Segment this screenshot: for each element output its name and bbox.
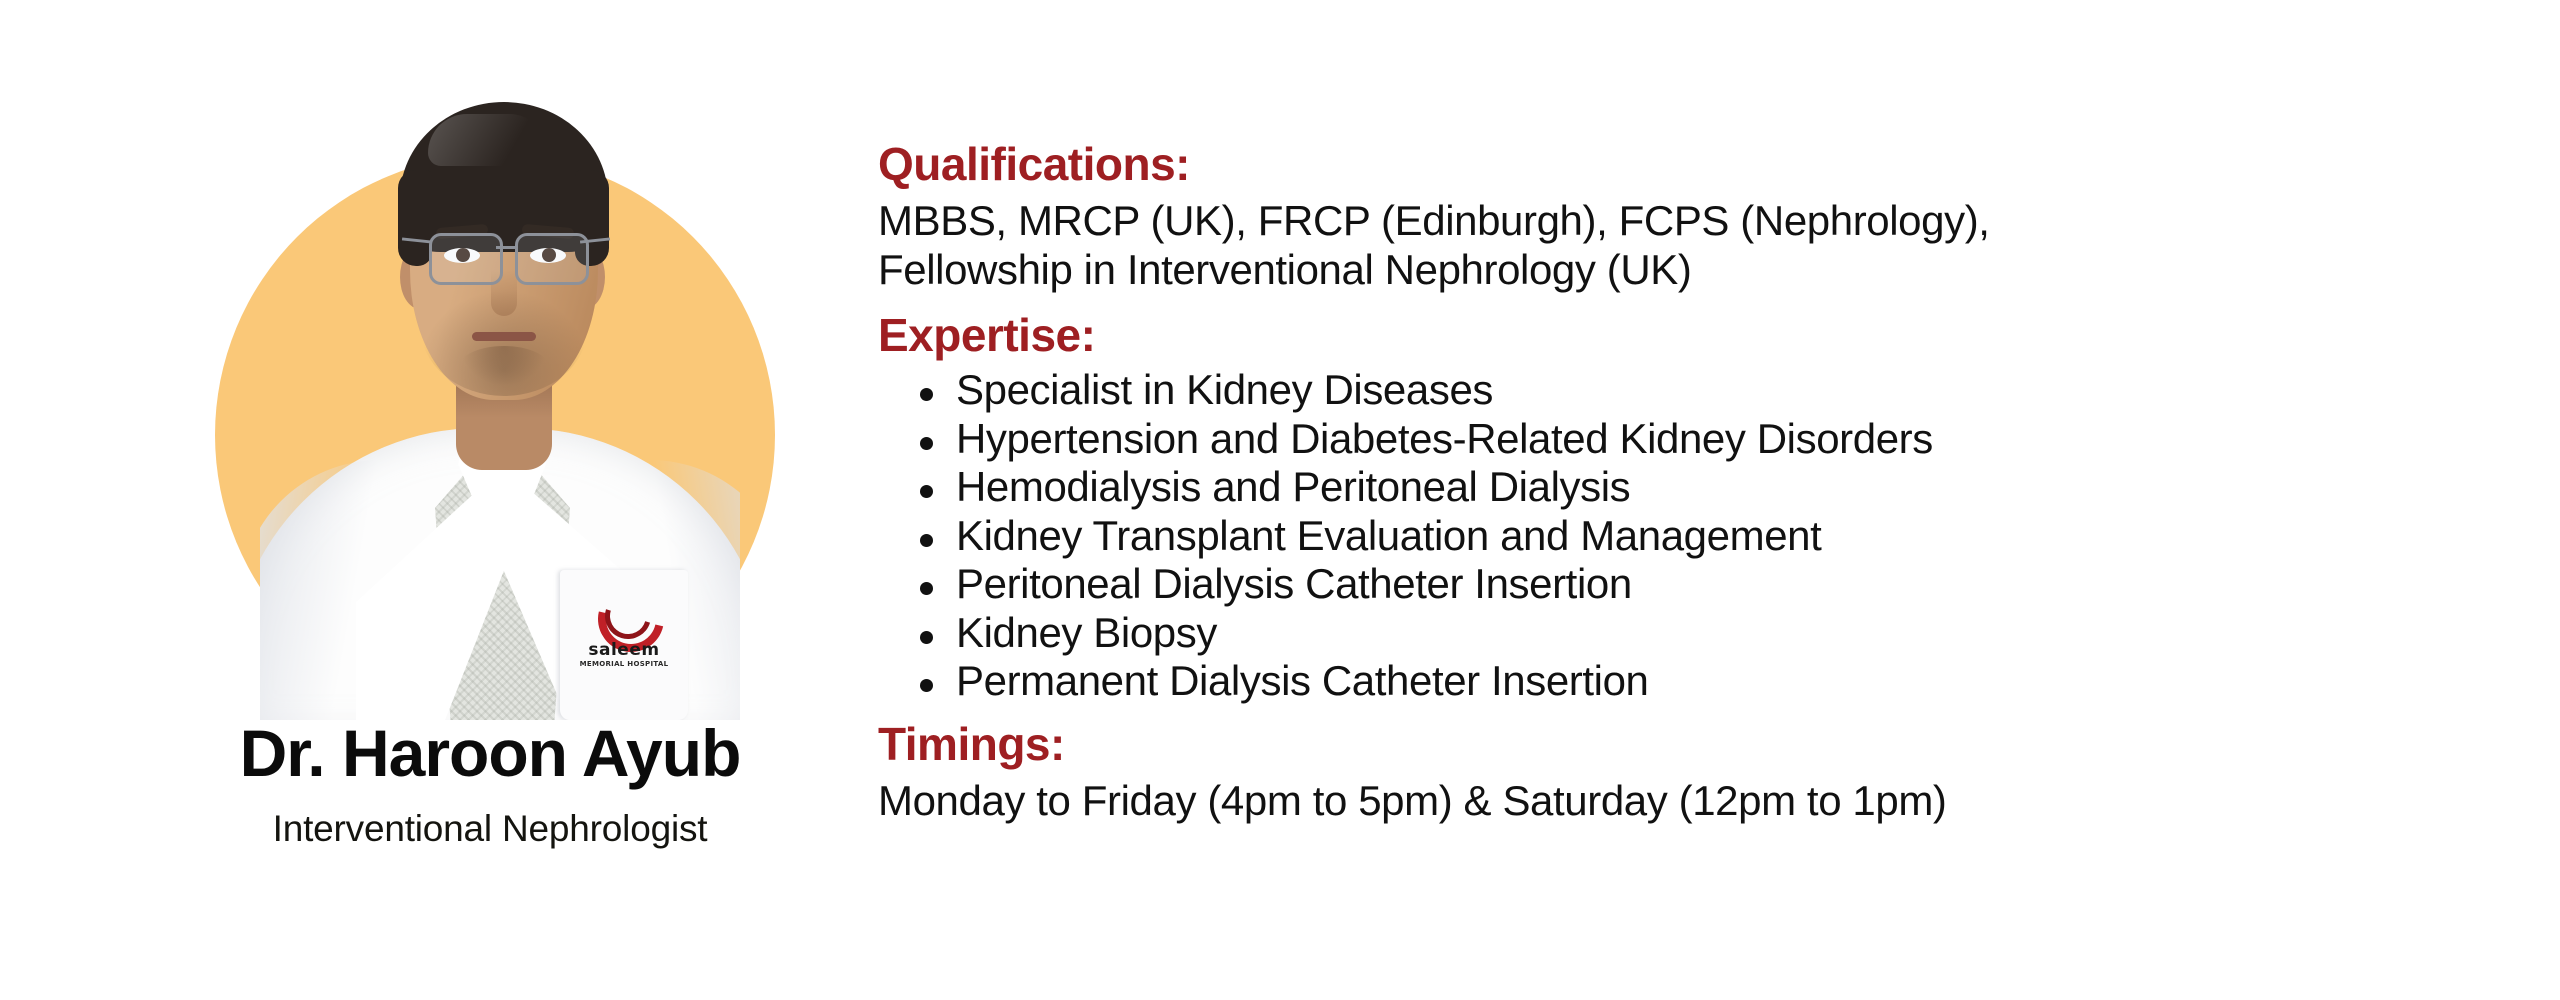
doctor-specialty: Interventional Nephrologist [110, 810, 870, 847]
details-column: Qualifications: MBBS, MRCP (UK), FRCP (E… [878, 140, 2438, 825]
list-item: Hemodialysis and Peritoneal Dialysis [918, 463, 2438, 512]
timings-value: Monday to Friday (4pm to 5pm) & Saturday… [878, 776, 2438, 826]
list-item: Kidney Biopsy [918, 609, 2438, 658]
qualifications-heading: Qualifications: [878, 140, 2438, 190]
list-item: Specialist in Kidney Diseases [918, 366, 2438, 415]
doctor-name: Dr. Haroon Ayub [110, 720, 870, 786]
hospital-logo-name: saleem [572, 640, 676, 660]
expertise-heading: Expertise: [878, 311, 2438, 361]
profile-column: saleem MEMORIAL HOSPITAL Dr. Haroon Ayub… [110, 20, 870, 920]
doctor-portrait-illustration: saleem MEMORIAL HOSPITAL [260, 30, 740, 720]
eyeglasses-icon [429, 233, 503, 285]
expertise-list: Specialist in Kidney Diseases Hypertensi… [878, 366, 2438, 706]
qualifications-line-2: Fellowship in Interventional Nephrology … [878, 245, 2438, 295]
timings-heading: Timings: [878, 720, 2438, 770]
hospital-logo-subtitle: MEMORIAL HOSPITAL [572, 660, 676, 668]
list-item: Permanent Dialysis Catheter Insertion [918, 657, 2438, 706]
qualifications-line-1: MBBS, MRCP (UK), FRCP (Edinburgh), FCPS … [878, 196, 2438, 246]
list-item: Peritoneal Dialysis Catheter Insertion [918, 560, 2438, 609]
list-item: Hypertension and Diabetes-Related Kidney… [918, 415, 2438, 464]
doctor-photo: saleem MEMORIAL HOSPITAL [110, 20, 870, 720]
hospital-logo: saleem MEMORIAL HOSPITAL [572, 586, 676, 682]
doctor-profile-card: saleem MEMORIAL HOSPITAL Dr. Haroon Ayub… [0, 0, 2560, 1000]
list-item: Kidney Transplant Evaluation and Managem… [918, 512, 2438, 561]
